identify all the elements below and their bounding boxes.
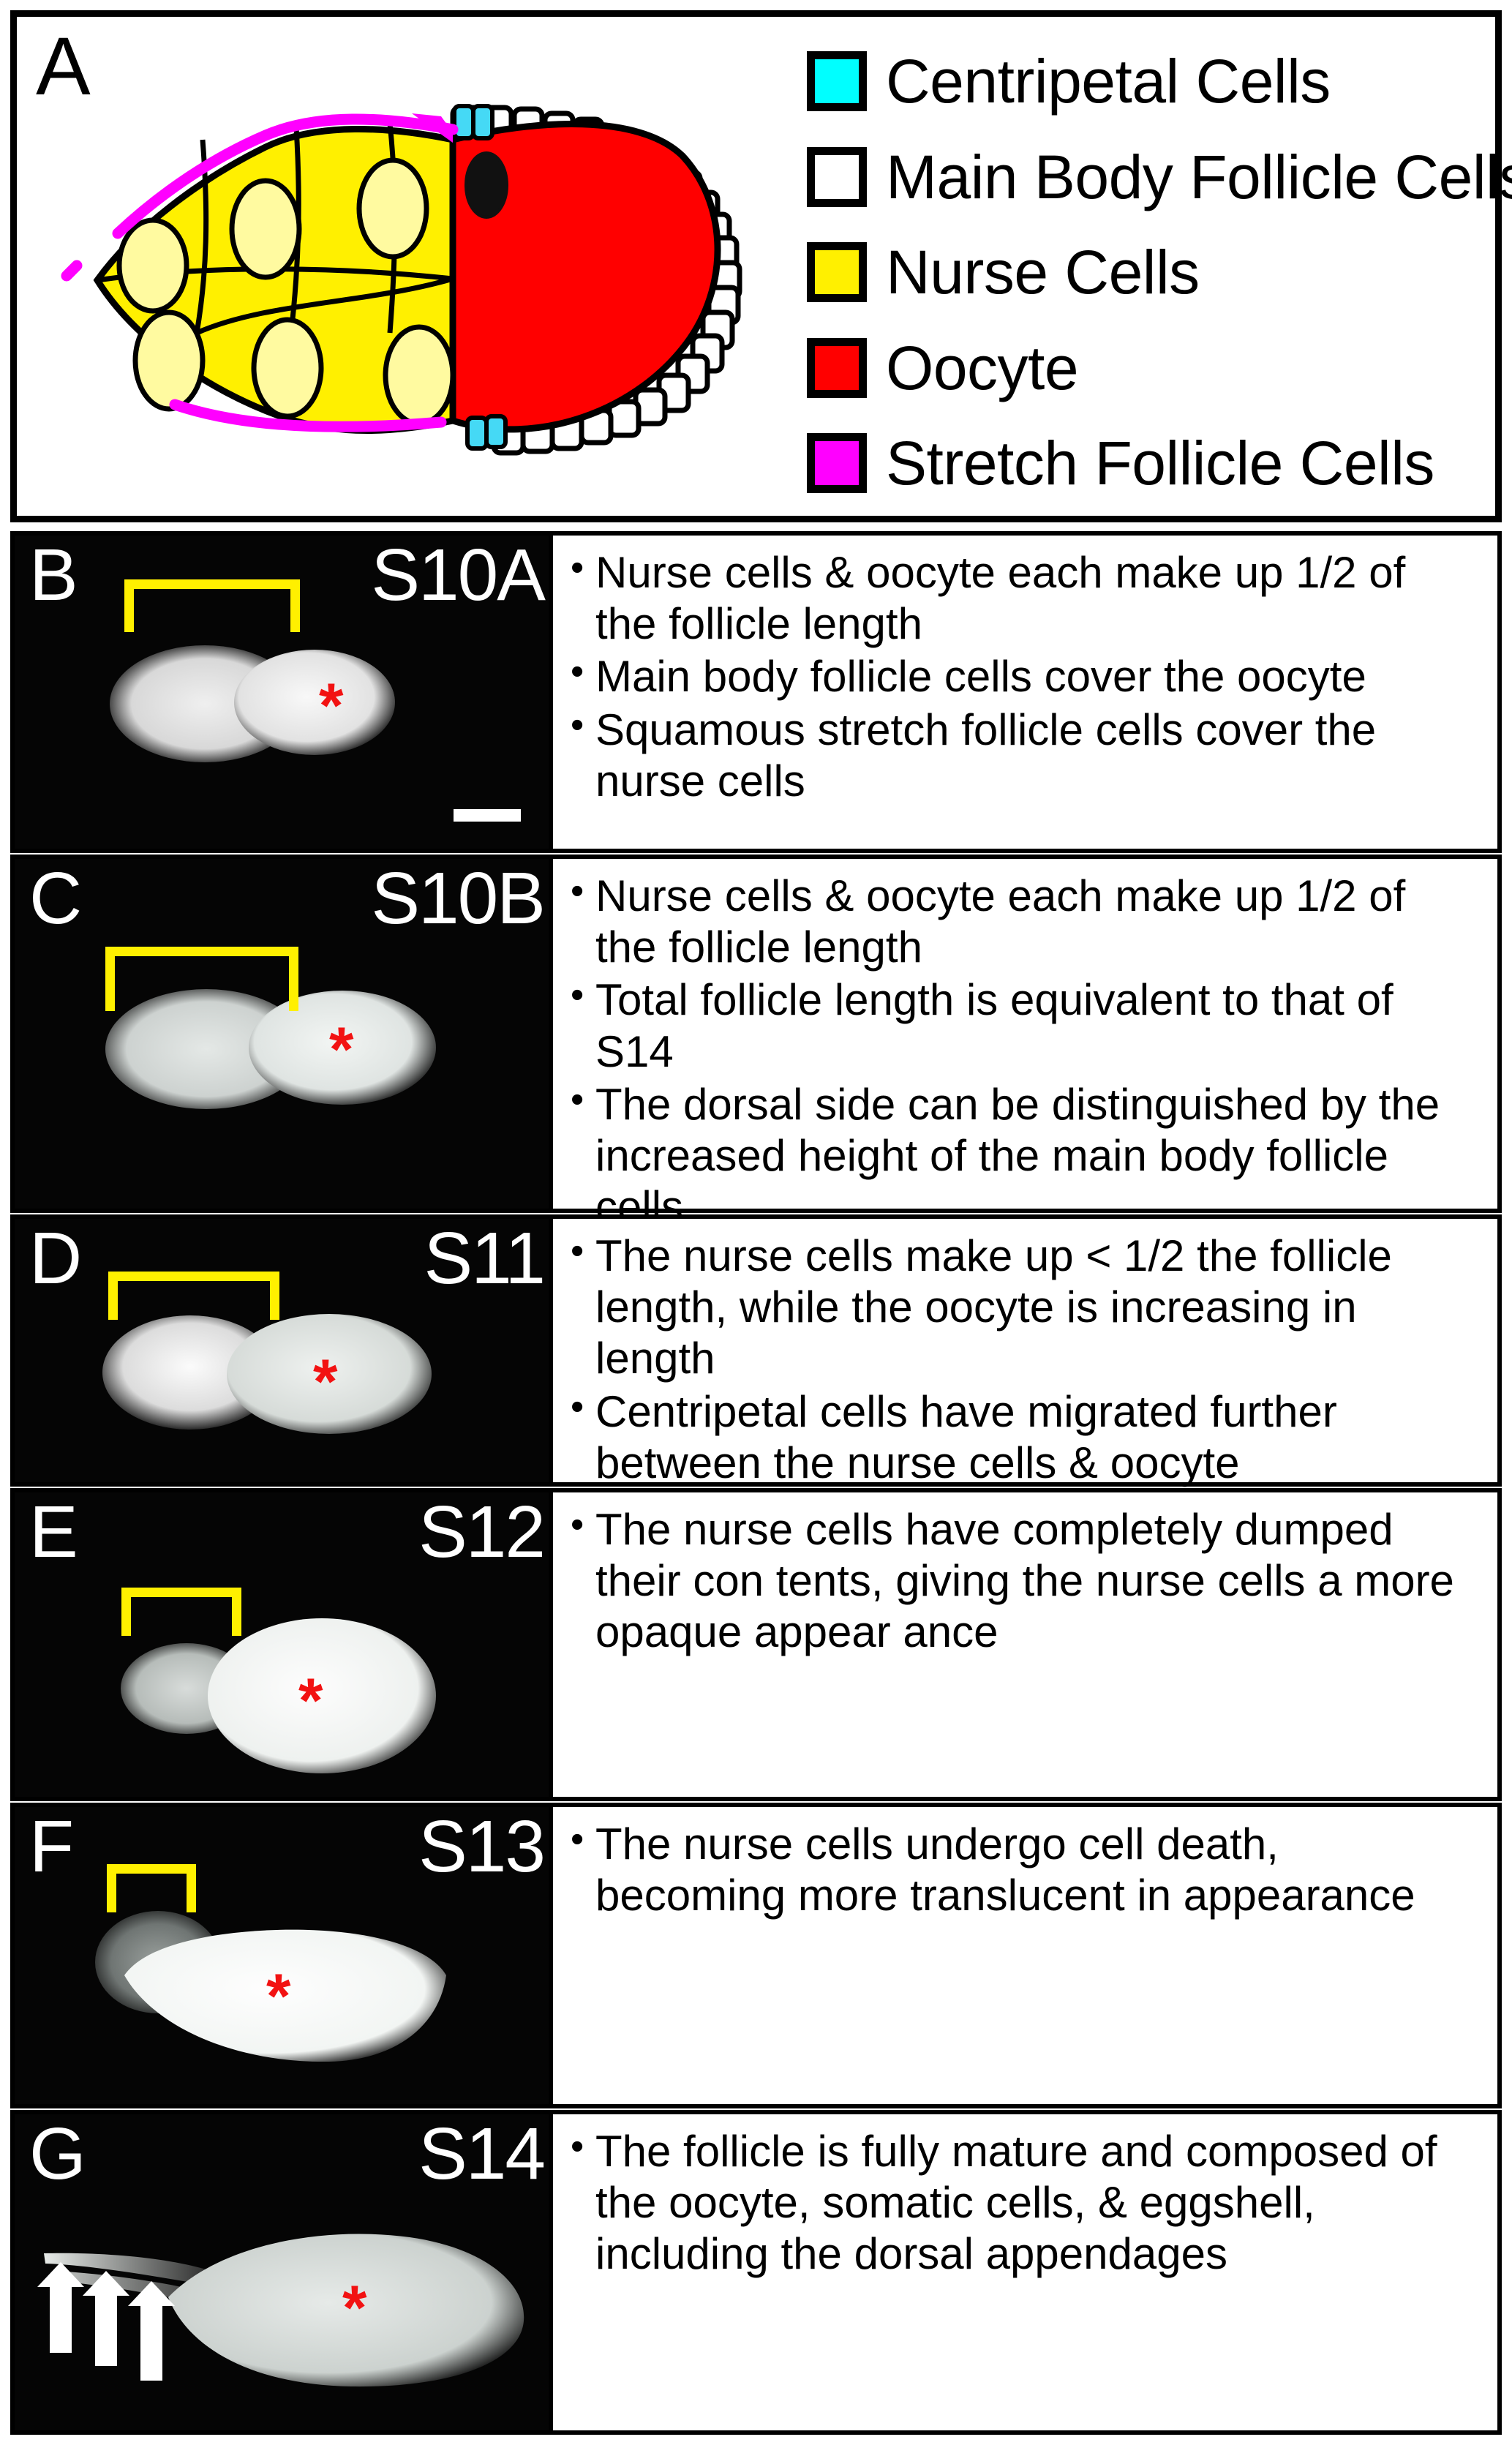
legend-label-main-body: Main Body Follicle Cells [886,146,1512,208]
legend-swatch-main-body-icon [807,147,867,207]
nurse-cell-bracket-b [124,579,300,632]
list-item: Nurse cells & oocyte each make up 1/2 of… [571,547,1478,650]
panel-c-letter: C [29,862,82,935]
list-item: Centripetal cells have migrated further … [571,1386,1478,1489]
legend-swatch-nurse-icon [807,242,867,302]
legend-item-stretch-follicle-cells: Stretch Follicle Cells [807,419,1487,507]
micrograph-c: C S10B * [15,859,549,1209]
panel-g-letter: G [29,2117,86,2190]
panel-row-e: E S12 * The nurse cells have complet [10,1488,1502,1801]
panel-f-description: The nurse cells undergo cell death, beco… [549,1807,1497,2104]
oocyte-asterisk-b: * [319,675,343,737]
micrograph-b: B S10A * [15,536,549,849]
panel-d-stage-label: S11 [424,1222,544,1295]
panel-f-stage-label: S13 [418,1810,544,1883]
legend-item-nurse-cells: Nurse Cells [807,228,1487,316]
dorsal-appendage-arrow-2 [95,2293,117,2366]
panel-row-d: D S11 * The nurse cells make up < 1/ [10,1214,1502,1487]
panel-g-bullet-list: The follicle is fully mature and compose… [571,2126,1478,2280]
oocyte-asterisk-g: * [342,2277,366,2340]
panel-g-description: The follicle is fully mature and compose… [549,2114,1497,2430]
panel-g-stage-label: S14 [418,2117,544,2190]
oocyte-asterisk-f: * [266,1965,290,2028]
panel-b-stage-label: S10A [371,538,544,612]
panel-c-description: Nurse cells & oocyte each make up 1/2 of… [549,859,1497,1209]
panel-e-description: The nurse cells have completely dumped t… [549,1492,1497,1797]
legend-item-oocyte: Oocyte [807,324,1487,412]
list-item: The nurse cells make up < 1/2 the follic… [571,1231,1478,1385]
panel-c-stage-label: S10B [371,862,544,935]
list-item: The nurse cells undergo cell death, beco… [571,1819,1478,1921]
micrograph-e: E S12 * [15,1492,549,1797]
panel-row-f: F S13 * The nurse cells undergo cell [10,1803,1502,2108]
list-item: The nurse cells have completely dumped t… [571,1504,1478,1659]
list-item: The follicle is fully mature and compose… [571,2126,1478,2280]
list-item: The dorsal side can be distinguished by … [571,1079,1478,1233]
panel-e-letter: E [29,1495,78,1569]
legend-swatch-oocyte-icon [807,338,867,398]
list-item: Total follicle length is equivalent to t… [571,974,1478,1077]
oocyte-asterisk-c: * [329,1018,353,1081]
figure-root: A [0,0,1512,2445]
dorsal-appendage-arrow-1 [50,2284,72,2353]
legend-swatch-centripetal-icon [807,51,867,111]
legend-item-centripetal-cells: Centripetal Cells [807,37,1487,125]
panel-f-letter: F [29,1810,74,1883]
legend-swatch-stretch-icon [807,433,867,493]
legend-item-main-body-follicle-cells: Main Body Follicle Cells [807,133,1487,221]
panel-row-b: B S10A * Nurse cells & oocyte [10,531,1502,853]
panel-b-bullet-list: Nurse cells & oocyte each make up 1/2 of… [571,547,1478,807]
list-item: Main body follicle cells cover the oocyt… [571,651,1478,702]
panel-d-bullet-list: The nurse cells make up < 1/2 the follic… [571,1231,1478,1489]
legend-label-stretch: Stretch Follicle Cells [886,432,1434,494]
panel-d-letter: D [29,1222,82,1295]
legend-label-centripetal: Centripetal Cells [886,50,1331,112]
micrograph-d: D S11 * [15,1219,549,1482]
panel-b-description: Nurse cells & oocyte each make up 1/2 of… [549,536,1497,849]
follicle-schematic-diagram [24,46,785,514]
legend-label-nurse: Nurse Cells [886,241,1200,303]
list-item: Nurse cells & oocyte each make up 1/2 of… [571,871,1478,973]
oocyte-asterisk-d: * [313,1351,337,1413]
oocyte-nucleus [466,153,507,217]
nurse-cell-bracket-c [105,947,298,1011]
nurse-cell-bracket-f [107,1864,196,1912]
panel-row-g: G S14 * [10,2110,1502,2435]
micrograph-f: F S13 * [15,1807,549,2104]
nurse-cell-bracket-e [121,1588,241,1636]
legend-label-oocyte: Oocyte [886,337,1078,399]
panel-row-c: C S10B * Nurse cells & oocyte each m [10,855,1502,1213]
panel-a: A [10,10,1502,522]
panel-f-bullet-list: The nurse cells undergo cell death, beco… [571,1819,1478,1921]
panel-e-stage-label: S12 [418,1495,544,1569]
oocyte-asterisk-e: * [298,1670,323,1732]
panel-d-description: The nurse cells make up < 1/2 the follic… [549,1219,1497,1482]
panel-b-letter: B [29,538,78,612]
scale-bar-b [454,809,521,822]
nurse-cell-bracket-d [108,1272,279,1320]
panel-e-bullet-list: The nurse cells have completely dumped t… [571,1504,1478,1659]
micrograph-g: G S14 * [15,2114,549,2430]
legend: Centripetal Cells Main Body Follicle Cel… [807,27,1487,517]
list-item: Squamous stretch follicle cells cover th… [571,705,1478,807]
dorsal-appendage-arrow-3 [140,2303,162,2381]
